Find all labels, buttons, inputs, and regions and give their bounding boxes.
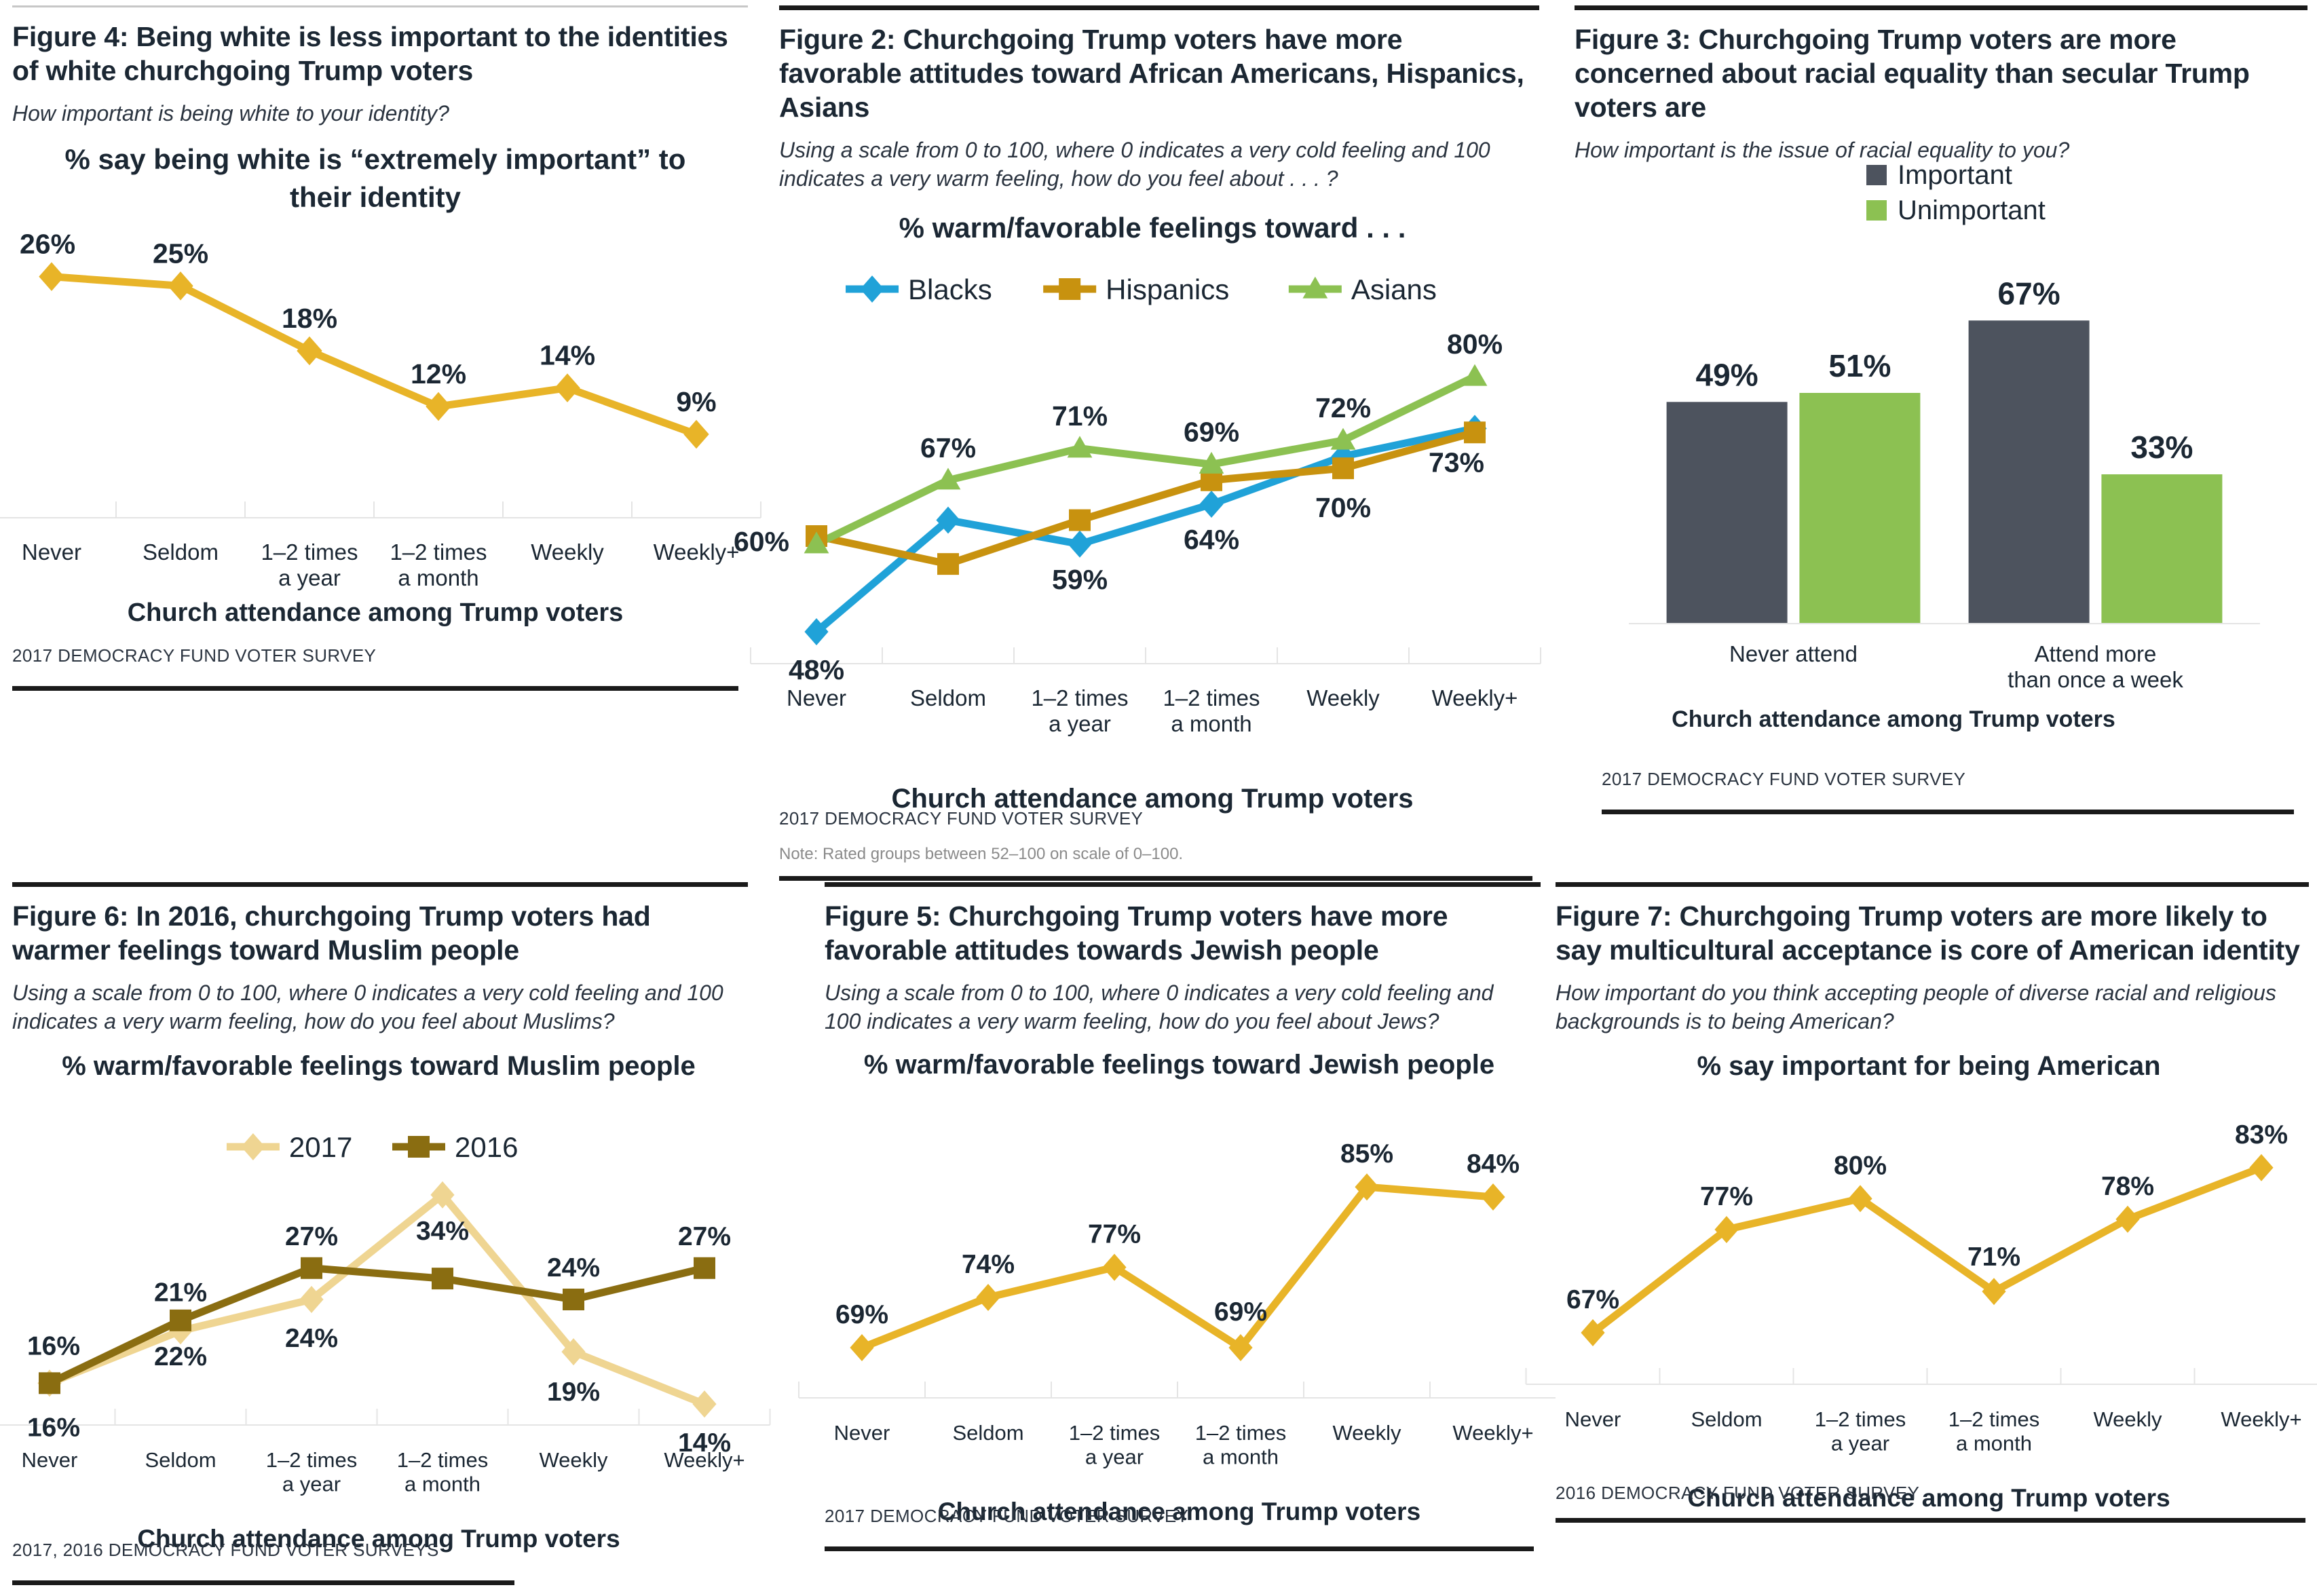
data-value-label: 19% bbox=[547, 1377, 600, 1407]
legend-item[interactable]: Unimportant bbox=[1866, 195, 2046, 225]
x-axis-tick-label: a month bbox=[1203, 1445, 1279, 1469]
figure-6-title: Figure 6: In 2016, churchgoing Trump vot… bbox=[12, 899, 738, 967]
chart-title: % say important for being American bbox=[1697, 1051, 2160, 1081]
x-axis-tick-label: than once a week bbox=[2008, 667, 2183, 692]
chart-title: their identity bbox=[290, 181, 461, 213]
figure-6-subtitle: Using a scale from 0 to 100, where 0 ind… bbox=[12, 979, 738, 1035]
data-value-label: 83% bbox=[2235, 1120, 2288, 1149]
data-point-marker bbox=[1464, 421, 1486, 443]
bar-value-label: 51% bbox=[1828, 348, 1891, 383]
x-axis-tick-label: Never bbox=[1565, 1407, 1621, 1431]
figure-2-note: Note: Rated groups between 52–100 on sca… bbox=[779, 845, 1183, 864]
x-axis-tick-label: Seldom bbox=[952, 1421, 1023, 1445]
panel-figure-4: Figure 4: Being white is less important … bbox=[12, 5, 748, 684]
x-axis-tick-label: Never bbox=[22, 1448, 78, 1472]
data-point-marker bbox=[39, 1373, 60, 1394]
chart-title: % say being white is “extremely importan… bbox=[65, 143, 686, 175]
series-line bbox=[1593, 1168, 2261, 1333]
legend-label: Important bbox=[1898, 160, 2012, 190]
data-value-label: 12% bbox=[411, 358, 466, 389]
figure-7-bottom-rule bbox=[1556, 1518, 2305, 1523]
data-point-marker bbox=[2249, 1154, 2273, 1181]
x-axis-tick-label: Never bbox=[834, 1421, 890, 1445]
figure-3-title: Figure 3: Churchgoing Trump voters are m… bbox=[1575, 22, 2294, 124]
data-value-label: 69% bbox=[1214, 1297, 1267, 1327]
data-point-marker bbox=[694, 1257, 715, 1279]
data-value-label: 74% bbox=[962, 1250, 1015, 1279]
figure-3-bottom-rule bbox=[1602, 810, 2294, 814]
figure-3-source: 2017 DEMOCRACY FUND VOTER SURVEY bbox=[1602, 769, 1965, 790]
figure-6-bottom-rule bbox=[12, 1580, 514, 1585]
legend-label: Unimportant bbox=[1898, 195, 2046, 225]
x-axis-tick-label: Weekly+ bbox=[654, 539, 740, 565]
x-axis-tick-label: a month bbox=[1171, 711, 1251, 736]
data-point-marker bbox=[850, 1334, 873, 1361]
data-value-label: 69% bbox=[1184, 416, 1239, 447]
x-axis-tick-label: 1–2 times bbox=[1815, 1407, 1906, 1431]
data-point-marker bbox=[1069, 510, 1091, 531]
figure-5-bottom-rule bbox=[825, 1546, 1534, 1551]
data-value-label: 77% bbox=[1700, 1182, 1753, 1211]
chart-title: % warm/favorable feelings toward Muslim … bbox=[62, 1051, 696, 1081]
data-value-label: 70% bbox=[1315, 492, 1371, 523]
figure-7-subtitle: How important do you think accepting peo… bbox=[1556, 979, 2305, 1035]
data-value-label: 64% bbox=[1184, 524, 1239, 555]
data-value-label: 9% bbox=[676, 386, 716, 417]
x-axis-tick-label: a year bbox=[1049, 711, 1111, 736]
data-value-label: 71% bbox=[1052, 400, 1108, 432]
legend-item[interactable]: Asians bbox=[1289, 273, 1437, 305]
data-value-label: 27% bbox=[285, 1222, 338, 1251]
x-axis-tick-label: Weekly+ bbox=[1452, 1421, 1533, 1445]
x-axis-tick-label: a month bbox=[1956, 1432, 2032, 1456]
x-axis-tick-label: 1–2 times bbox=[266, 1448, 357, 1472]
chart-title: % warm/favorable feelings toward . . . bbox=[899, 212, 1406, 244]
legend-item[interactable]: Blacks bbox=[846, 273, 992, 305]
series-line bbox=[862, 1187, 1493, 1348]
x-axis-tick-label: a year bbox=[1831, 1432, 1889, 1456]
figure-5-subtitle: Using a scale from 0 to 100, where 0 ind… bbox=[825, 979, 1534, 1035]
data-point-marker bbox=[408, 1136, 430, 1158]
figure-4-title: Figure 4: Being white is less important … bbox=[12, 20, 738, 88]
data-value-label: 16% bbox=[27, 1413, 80, 1443]
data-value-label: 14% bbox=[540, 339, 595, 370]
figure-2-subtitle: Using a scale from 0 to 100, where 0 ind… bbox=[779, 136, 1532, 193]
figure-7-source: 2016 DEMOCRACY FUND VOTER SURVEY bbox=[1556, 1483, 1919, 1504]
figure-4-chart: % say being white is “extremely importan… bbox=[12, 138, 748, 640]
data-value-label: 27% bbox=[678, 1222, 731, 1251]
data-value-label: 71% bbox=[1967, 1242, 2020, 1272]
x-axis-tick-label: 1–2 times bbox=[1948, 1407, 2039, 1431]
bar bbox=[2101, 474, 2222, 624]
data-point-marker bbox=[554, 373, 580, 402]
x-axis-tick-label: 1–2 times bbox=[261, 539, 358, 565]
x-axis-tick-label: 1–2 times bbox=[1069, 1421, 1160, 1445]
figure-5-svg: % warm/favorable feelings toward Jewish … bbox=[825, 1045, 1534, 1534]
bar-value-label: 49% bbox=[1696, 357, 1758, 392]
x-axis-tick-label: a month bbox=[398, 565, 478, 590]
x-axis-tick-label: 1–2 times bbox=[1031, 685, 1128, 710]
data-point-marker bbox=[301, 1257, 322, 1279]
x-axis-tick-label: a year bbox=[282, 1472, 341, 1496]
data-value-label: 48% bbox=[789, 654, 844, 685]
x-axis-tick-label: Never attend bbox=[1729, 641, 1858, 666]
data-value-label: 25% bbox=[153, 237, 208, 269]
x-axis-tick-label: 1–2 times bbox=[390, 539, 487, 565]
data-value-label: 21% bbox=[154, 1278, 207, 1307]
data-value-label: 80% bbox=[1834, 1152, 1887, 1181]
legend-label: 2017 bbox=[289, 1131, 352, 1163]
panel-figure-2: Figure 2: Churchgoing Trump voters have … bbox=[779, 5, 1539, 860]
legend-item[interactable]: 2017 bbox=[227, 1131, 352, 1163]
data-point-marker bbox=[297, 336, 322, 365]
data-point-marker bbox=[168, 271, 193, 301]
x-axis-tick-label: Seldom bbox=[1691, 1407, 1762, 1431]
legend-label: Asians bbox=[1351, 273, 1437, 305]
series-line bbox=[52, 276, 696, 434]
data-point-marker bbox=[1332, 457, 1354, 479]
data-point-marker bbox=[1199, 491, 1223, 518]
data-value-label: 78% bbox=[2101, 1172, 2154, 1201]
data-value-label: 67% bbox=[1566, 1285, 1619, 1314]
x-axis-tick-label: Seldom bbox=[910, 685, 986, 710]
x-axis-tick-label: 1–2 times bbox=[1163, 685, 1260, 710]
data-point-marker bbox=[39, 262, 64, 291]
legend-item[interactable]: 2016 bbox=[392, 1131, 518, 1163]
legend-color-swatch bbox=[1866, 200, 1887, 221]
figure-6-svg: % warm/favorable feelings toward Muslim … bbox=[12, 1045, 745, 1561]
data-point-marker bbox=[1463, 364, 1488, 386]
data-value-label: 85% bbox=[1340, 1139, 1393, 1168]
legend-label: Hispanics bbox=[1106, 273, 1229, 305]
x-axis-tick-label: Weekly bbox=[1332, 1421, 1401, 1445]
data-point-marker bbox=[1068, 531, 1091, 558]
x-axis-tick-label: 1–2 times bbox=[1195, 1421, 1286, 1445]
figure-3-chart: ImportantUnimportant49%51%Never attend67… bbox=[1575, 169, 2307, 739]
figure-3-svg: ImportantUnimportant49%51%Never attend67… bbox=[1575, 169, 2294, 739]
x-axis-tick-label: 1–2 times bbox=[397, 1448, 488, 1472]
bar-value-label: 33% bbox=[2130, 430, 2193, 465]
x-axis-tick-label: Weekly bbox=[531, 539, 604, 565]
bar bbox=[1667, 402, 1788, 624]
panel-figure-6: Figure 6: In 2016, churchgoing Trump vot… bbox=[12, 882, 748, 1588]
figure-2-source: 2017 DEMOCRACY FUND VOTER SURVEY bbox=[779, 808, 1143, 829]
data-value-label: 60% bbox=[734, 526, 789, 557]
legend-label: 2016 bbox=[455, 1131, 518, 1163]
figure-6-source: 2017, 2016 DEMOCRACY FUND VOTER SURVEYS bbox=[12, 1540, 439, 1561]
figures-sheet: Figure 4: Being white is less important … bbox=[0, 0, 2317, 1596]
data-value-label: 84% bbox=[1467, 1149, 1520, 1179]
x-axis-tick-label: a year bbox=[1085, 1445, 1144, 1469]
x-axis-tick-label: Weekly+ bbox=[1432, 685, 1518, 710]
data-value-label: 69% bbox=[835, 1300, 888, 1329]
x-axis-tick-label: Seldom bbox=[143, 539, 219, 565]
x-axis-tick-label: Never bbox=[787, 685, 846, 710]
figure-4-subtitle: How important is being white to your ide… bbox=[12, 100, 748, 128]
panel-figure-5: Figure 5: Churchgoing Trump voters have … bbox=[825, 882, 1541, 1561]
data-point-marker bbox=[692, 1390, 716, 1418]
data-value-label: 73% bbox=[1429, 446, 1484, 478]
figure-6-chart: % warm/favorable feelings toward Muslim … bbox=[12, 1045, 748, 1561]
data-point-marker bbox=[432, 1268, 453, 1289]
data-value-label: 22% bbox=[154, 1342, 207, 1371]
panel-figure-7: Figure 7: Churchgoing Trump voters are m… bbox=[1556, 882, 2309, 1534]
x-axis-tick-label: a month bbox=[404, 1472, 481, 1496]
x-axis-tick-label: Weekly bbox=[539, 1448, 608, 1472]
data-point-marker bbox=[2115, 1206, 2139, 1233]
data-point-marker bbox=[241, 1133, 265, 1160]
bar-value-label: 67% bbox=[1998, 275, 2060, 311]
data-point-marker bbox=[426, 392, 451, 421]
bar bbox=[1799, 393, 1920, 624]
x-axis-tick-label: Never bbox=[22, 539, 81, 565]
legend-item[interactable]: Hispanics bbox=[1043, 273, 1229, 305]
series-line bbox=[50, 1195, 704, 1404]
figure-2-svg: % warm/favorable feelings toward . . .Bl… bbox=[779, 202, 1526, 826]
figure-7-chart: % say important for being American67%77%… bbox=[1556, 1045, 2309, 1520]
x-axis-title: Church attendance among Trump voters bbox=[1672, 706, 2115, 732]
data-value-label: 26% bbox=[20, 228, 75, 259]
figure-5-chart: % warm/favorable feelings toward Jewish … bbox=[825, 1045, 1541, 1534]
data-point-marker bbox=[937, 553, 959, 575]
figure-2-title: Figure 2: Churchgoing Trump voters have … bbox=[779, 22, 1532, 124]
figure-4-source: 2017 DEMOCRACY FUND VOTER SURVEY bbox=[12, 645, 376, 666]
figure-2-bottom-rule bbox=[779, 876, 1532, 881]
x-axis-tick-label: Weekly+ bbox=[664, 1448, 745, 1472]
figure-5-source: 2017 DEMOCRACY FUND VOTER SURVEY bbox=[825, 1506, 1188, 1527]
data-value-label: 34% bbox=[416, 1217, 469, 1246]
data-point-marker bbox=[683, 419, 709, 449]
data-value-label: 59% bbox=[1052, 564, 1108, 595]
data-point-marker bbox=[1481, 1183, 1505, 1211]
data-value-label: 67% bbox=[920, 432, 976, 463]
figure-7-title: Figure 7: Churchgoing Trump voters are m… bbox=[1556, 899, 2305, 967]
x-axis-tick-label: Weekly+ bbox=[2221, 1407, 2301, 1431]
data-value-label: 80% bbox=[1447, 328, 1503, 360]
figure-2-chart: % warm/favorable feelings toward . . .Bl… bbox=[779, 202, 1539, 826]
data-value-label: 24% bbox=[285, 1324, 338, 1353]
chart-title: % warm/favorable feelings toward Jewish … bbox=[864, 1050, 1494, 1080]
figure-4-bottom-rule bbox=[12, 686, 738, 691]
data-point-marker bbox=[1059, 278, 1080, 300]
legend-label: Blacks bbox=[908, 273, 992, 305]
panel-figure-3: Figure 3: Churchgoing Trump voters are m… bbox=[1575, 5, 2307, 820]
x-axis-title: Church attendance among Trump voters bbox=[128, 598, 624, 627]
data-point-marker bbox=[563, 1289, 584, 1310]
figure-7-svg: % say important for being American67%77%… bbox=[1556, 1045, 2302, 1520]
data-point-marker bbox=[976, 1284, 1000, 1311]
data-point-marker bbox=[860, 275, 884, 303]
data-value-label: 18% bbox=[282, 303, 337, 334]
x-axis-tick-label: a year bbox=[278, 565, 341, 590]
data-value-label: 72% bbox=[1315, 392, 1371, 423]
x-axis-tick-label: Weekly bbox=[1306, 685, 1380, 710]
data-value-label: 24% bbox=[547, 1253, 600, 1282]
x-axis-tick-label: Weekly bbox=[2093, 1407, 2162, 1431]
data-point-marker bbox=[170, 1310, 191, 1331]
bar bbox=[1969, 320, 2090, 624]
data-value-label: 16% bbox=[27, 1332, 80, 1361]
x-axis-tick-label: Attend more bbox=[2035, 641, 2157, 666]
x-axis-tick-label: Seldom bbox=[145, 1448, 216, 1472]
figure-5-title: Figure 5: Churchgoing Trump voters have … bbox=[825, 899, 1534, 967]
data-value-label: 77% bbox=[1088, 1220, 1141, 1249]
legend-color-swatch bbox=[1866, 165, 1887, 185]
figure-4-svg: % say being white is “extremely importan… bbox=[12, 138, 738, 640]
